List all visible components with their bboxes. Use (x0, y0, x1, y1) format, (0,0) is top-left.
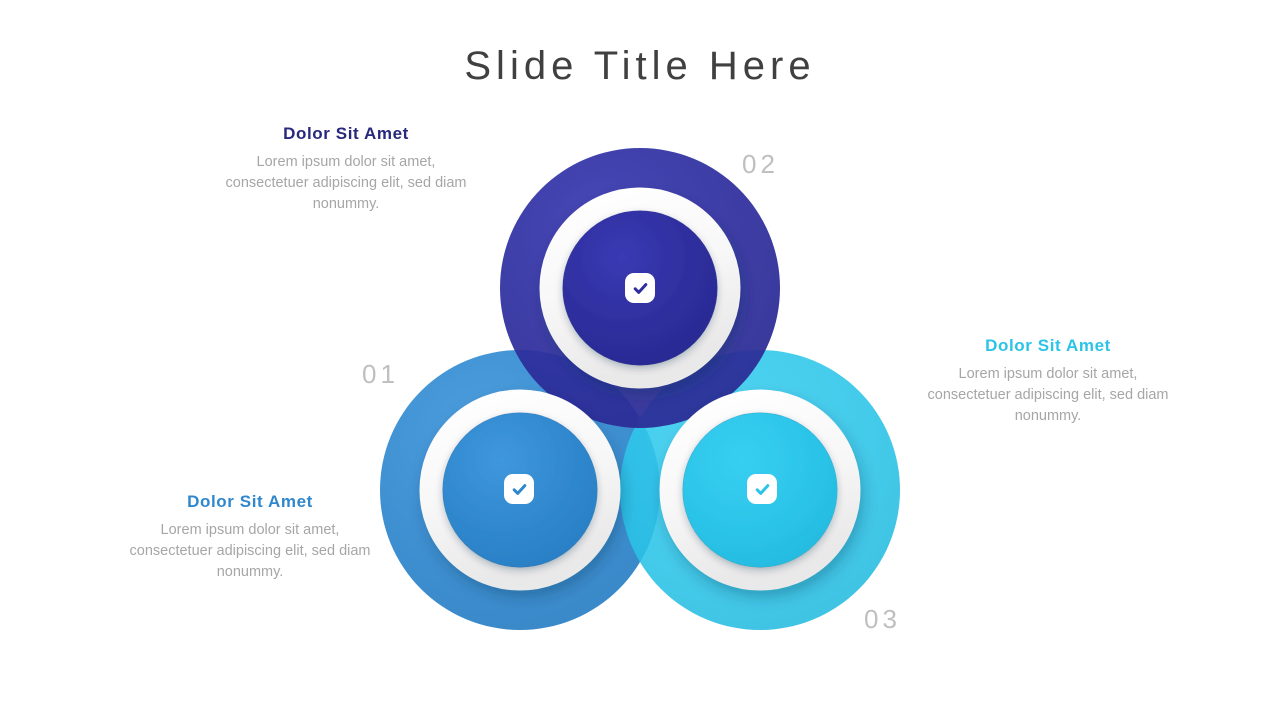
circle-1-number: 01 (362, 359, 399, 390)
text-block-left-heading: Dolor Sit Amet (122, 492, 378, 512)
text-block-top-body: Lorem ipsum dolor sit amet, consectetuer… (218, 152, 474, 215)
circle-1-badge[interactable] (504, 474, 534, 504)
check-icon (754, 481, 771, 498)
text-block-right: Dolor Sit Amet Lorem ipsum dolor sit ame… (920, 336, 1176, 427)
check-icon (632, 280, 649, 297)
text-block-right-heading: Dolor Sit Amet (920, 336, 1176, 356)
circle-3-badge[interactable] (747, 474, 777, 504)
circle-3-number: 03 (864, 604, 901, 635)
text-block-top-heading: Dolor Sit Amet (218, 124, 474, 144)
text-block-left: Dolor Sit Amet Lorem ipsum dolor sit ame… (122, 492, 378, 583)
circle-2-badge[interactable] (625, 273, 655, 303)
text-block-left-body: Lorem ipsum dolor sit amet, consectetuer… (122, 520, 378, 583)
check-icon (511, 481, 528, 498)
text-block-top: Dolor Sit Amet Lorem ipsum dolor sit ame… (218, 124, 474, 215)
slide-canvas: Slide Title Here (0, 0, 1280, 720)
page-title: Slide Title Here (0, 44, 1280, 89)
text-block-right-body: Lorem ipsum dolor sit amet, consectetuer… (920, 364, 1176, 427)
circle-2-number: 02 (742, 149, 779, 180)
